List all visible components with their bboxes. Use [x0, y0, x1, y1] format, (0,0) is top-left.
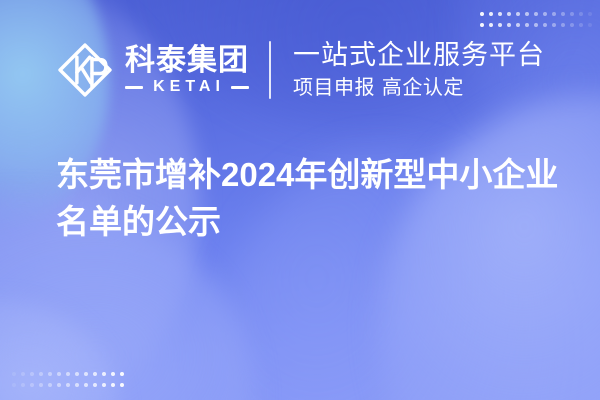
brand-name-cn: 科泰集团	[125, 45, 249, 77]
dot	[93, 372, 97, 376]
brand-logo[interactable]: 科泰集团 KETAI	[56, 41, 249, 99]
tagline-secondary: 项目申报 高企认定	[293, 74, 545, 100]
dot	[84, 383, 88, 387]
dot	[93, 383, 97, 387]
dot	[12, 372, 16, 376]
header-vertical-divider	[269, 41, 271, 99]
dot	[120, 372, 124, 376]
dot	[57, 383, 61, 387]
wordmark-dash-right	[231, 86, 249, 89]
dot	[111, 383, 115, 387]
dot	[39, 372, 43, 376]
banner-header: 科泰集团 KETAI 一站式企业服务平台 项目申报 高企认定	[0, 0, 600, 140]
dot	[75, 383, 79, 387]
background-blob-bottom-left-inner	[0, 300, 120, 400]
wordmark-dash-left	[125, 86, 143, 89]
dot	[111, 372, 115, 376]
dot	[21, 372, 25, 376]
dot	[30, 372, 34, 376]
tagline-primary: 一站式企业服务平台	[293, 40, 545, 72]
dot	[12, 383, 16, 387]
dot-row	[12, 372, 124, 376]
dot	[84, 372, 88, 376]
dot	[57, 372, 61, 376]
dot	[75, 372, 79, 376]
dot	[48, 383, 52, 387]
page-title-line-2: 名单的公示	[56, 199, 566, 246]
brand-wordmark: 科泰集团 KETAI	[125, 45, 249, 96]
brand-name-en: KETAI	[149, 79, 225, 95]
tagline-block: 一站式企业服务平台 项目申报 高企认定	[293, 40, 545, 101]
dot	[48, 372, 52, 376]
dot-pattern-bottom-left	[12, 372, 124, 387]
page-title-line-1: 东莞市增补2024年创新型中小企业	[56, 152, 566, 199]
background-blob-right-large	[378, 95, 600, 400]
dot	[102, 383, 106, 387]
dot	[21, 383, 25, 387]
dot	[66, 372, 70, 376]
dot	[30, 383, 34, 387]
dot	[120, 383, 124, 387]
page-title: 东莞市增补2024年创新型中小企业 名单的公示	[56, 152, 566, 246]
promo-banner: 科泰集团 KETAI 一站式企业服务平台 项目申报 高企认定 东莞市增补2024…	[0, 0, 600, 400]
dot	[102, 372, 106, 376]
dot-row	[12, 383, 124, 387]
dot	[66, 383, 70, 387]
ketai-diamond-kp-monogram-icon	[56, 41, 114, 99]
brand-name-en-row: KETAI	[125, 79, 249, 95]
dot	[39, 383, 43, 387]
